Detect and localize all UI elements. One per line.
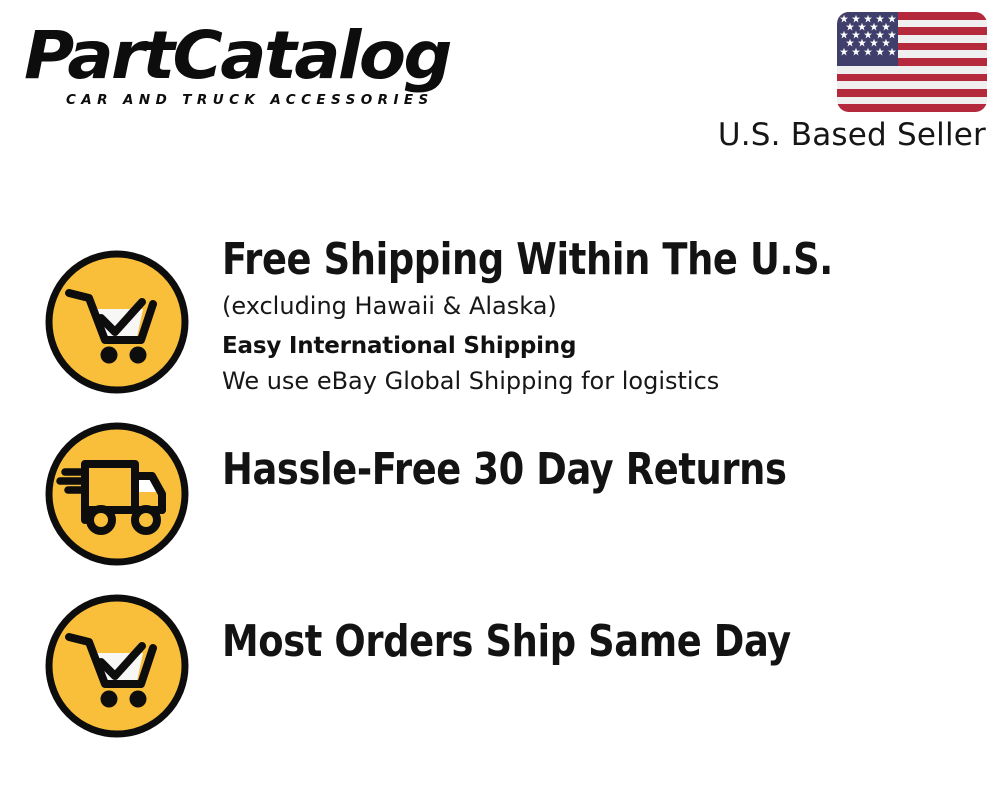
benefit-item-free-shipping: Free Shipping Within The U.S. (excluding… bbox=[0, 232, 1000, 404]
us-based-seller-label: U.S. Based Seller bbox=[718, 117, 986, 153]
shopping-cart-check-icon bbox=[43, 248, 191, 396]
us-flag-icon bbox=[837, 12, 987, 112]
flag-stripe bbox=[837, 104, 987, 112]
benefit-headline: Most Orders Ship Same Day bbox=[222, 614, 927, 670]
flag-stripe bbox=[837, 89, 987, 97]
benefit-subheading: Easy International Shipping bbox=[222, 329, 980, 363]
flag-stripe bbox=[837, 97, 987, 105]
benefits-list: Free Shipping Within The U.S. (excluding… bbox=[0, 232, 1000, 748]
brand-logo-tagline: CAR AND TRUCK ACCESSORIES bbox=[66, 92, 494, 108]
flag-stripe bbox=[837, 74, 987, 82]
benefit-headline: Free Shipping Within The U.S. bbox=[222, 232, 927, 288]
shopping-cart-check-icon bbox=[43, 592, 191, 740]
benefit-text-block: Hassle-Free 30 Day Returns bbox=[222, 442, 980, 498]
benefit-item-same-day-shipping: Most Orders Ship Same Day bbox=[0, 576, 1000, 748]
flag-stripe bbox=[837, 81, 987, 89]
brand-logo-wordmark: PartCatalog bbox=[24, 22, 513, 90]
brand-logo: PartCatalog CAR AND TRUCK ACCESSORIES bbox=[24, 22, 494, 108]
benefit-text-block: Free Shipping Within The U.S. (excluding… bbox=[222, 232, 980, 398]
benefit-headline: Hassle-Free 30 Day Returns bbox=[222, 442, 927, 498]
banner-header: PartCatalog CAR AND TRUCK ACCESSORIES bbox=[0, 0, 1000, 175]
benefit-subtext: We use eBay Global Shipping for logistic… bbox=[222, 364, 980, 398]
benefit-note: (excluding Hawaii & Alaska) bbox=[222, 289, 980, 323]
delivery-truck-icon bbox=[43, 420, 191, 568]
flag-stripe bbox=[837, 66, 987, 74]
flag-canton bbox=[837, 12, 898, 66]
benefit-item-returns: Hassle-Free 30 Day Returns bbox=[0, 404, 1000, 576]
benefit-text-block: Most Orders Ship Same Day bbox=[222, 614, 980, 670]
